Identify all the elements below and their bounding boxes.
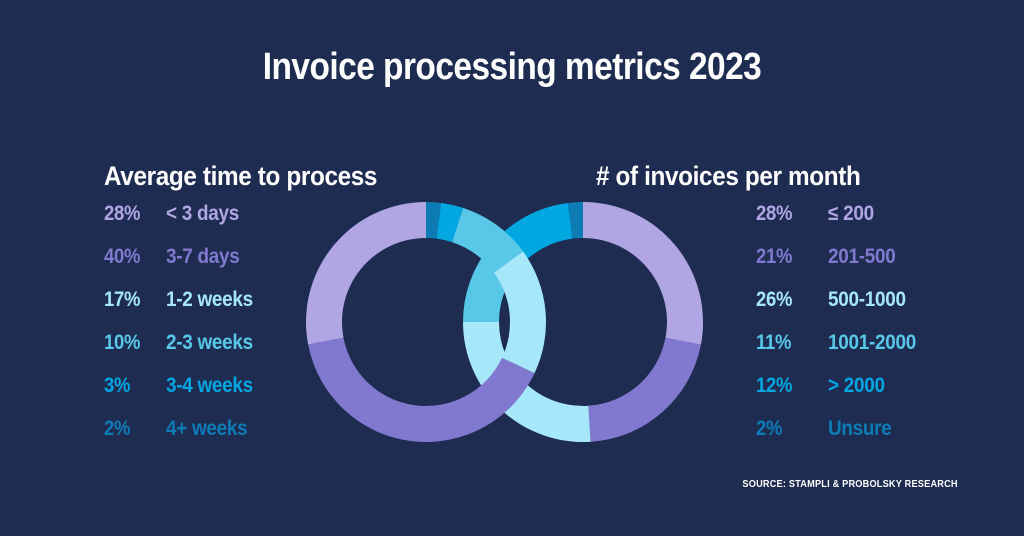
legend-percent: 12% xyxy=(756,374,819,398)
donut-segment xyxy=(583,202,703,344)
donut-segment xyxy=(463,246,518,322)
source-note: SOURCE: STAMPLI & PROBOLSKY RESEARCH xyxy=(82,479,1024,490)
donut-segment xyxy=(588,338,701,442)
legend-percent: 11% xyxy=(756,331,819,355)
legend-label: 500-1000 xyxy=(828,288,906,312)
legend-label: 3-4 weeks xyxy=(166,374,253,398)
legend-row: 3%3-4 weeks xyxy=(104,374,263,417)
infographic-canvas: Invoice processing metrics 2023 Average … xyxy=(0,0,1024,536)
donut-segment xyxy=(308,338,534,442)
legend-row: 21%201-500 xyxy=(756,245,926,288)
donut-segment xyxy=(426,202,441,239)
legend-percent: 2% xyxy=(104,417,159,441)
right-chart-heading: # of invoices per month xyxy=(596,161,860,192)
legend-label: < 3 days xyxy=(166,202,239,226)
donut-segment xyxy=(306,202,426,344)
legend-row: 26%500-1000 xyxy=(756,288,926,331)
legend-label: 4+ weeks xyxy=(166,417,247,441)
legend-label: 1001-2000 xyxy=(828,331,916,355)
legend-percent: 28% xyxy=(756,202,819,226)
legend-percent: 3% xyxy=(104,374,159,398)
donut-segment xyxy=(494,251,546,373)
legend-row: 11%1001-2000 xyxy=(756,331,926,374)
legend-row: 2%Unsure xyxy=(756,417,926,460)
legend-percent: 21% xyxy=(756,245,819,269)
legend-label: Unsure xyxy=(828,417,892,441)
legend-label: > 2000 xyxy=(828,374,885,398)
legend-row: 40%3-7 days xyxy=(104,245,263,288)
donut-average-time-to-process xyxy=(306,202,546,442)
legend-average-time-to-process: 28%< 3 days40%3-7 days17%1-2 weeks10%2-3… xyxy=(104,202,263,460)
left-chart-heading: Average time to process xyxy=(104,161,377,192)
donut-segment xyxy=(568,202,583,239)
donut-segment xyxy=(583,202,703,344)
donut-segment xyxy=(463,322,591,442)
donut-segment xyxy=(463,322,591,442)
legend-percent: 26% xyxy=(756,288,819,312)
donut-interlock-overlay xyxy=(463,202,703,442)
donut-segment xyxy=(437,203,464,242)
legend-percent: 17% xyxy=(104,288,159,312)
legend-label: ≤ 200 xyxy=(828,202,874,226)
donut-segment xyxy=(491,203,573,269)
legend-percent: 40% xyxy=(104,245,159,269)
donut-segment xyxy=(588,338,701,442)
legend-row: 28%≤ 200 xyxy=(756,202,926,245)
legend-percent: 2% xyxy=(756,417,819,441)
page-title: Invoice processing metrics 2023 xyxy=(61,46,962,89)
legend-invoices-per-month: 28%≤ 20021%201-50026%500-100011%1001-200… xyxy=(756,202,926,460)
legend-percent: 10% xyxy=(104,331,159,355)
legend-label: 3-7 days xyxy=(166,245,239,269)
legend-row: 2%4+ weeks xyxy=(104,417,263,460)
donut-segment xyxy=(568,202,583,239)
legend-label: 2-3 weeks xyxy=(166,331,253,355)
donut-segment xyxy=(452,208,523,273)
legend-label: 201-500 xyxy=(828,245,895,269)
legend-label: 1-2 weeks xyxy=(166,288,253,312)
donut-invoices-per-month xyxy=(463,202,703,442)
donut-segment xyxy=(463,246,518,322)
legend-row: 17%1-2 weeks xyxy=(104,288,263,331)
legend-row: 10%2-3 weeks xyxy=(104,331,263,374)
donut-segment xyxy=(491,203,573,269)
legend-percent: 28% xyxy=(104,202,159,226)
legend-row: 28%< 3 days xyxy=(104,202,263,245)
legend-row: 12%> 2000 xyxy=(756,374,926,417)
